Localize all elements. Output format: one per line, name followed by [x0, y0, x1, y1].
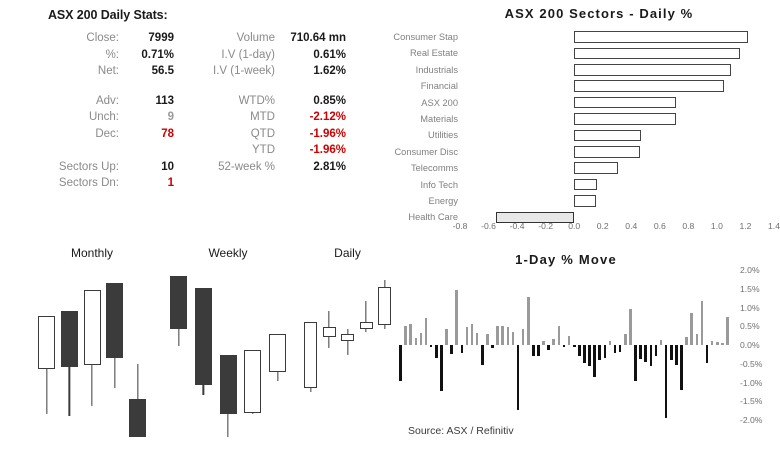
move-y-tick: 0.0%	[740, 340, 760, 350]
sector-label: Industrials	[372, 62, 458, 78]
weekly-candlestick-panel: Weekly	[158, 246, 298, 437]
monthly-title: Monthly	[22, 246, 162, 260]
move-bar	[568, 336, 571, 345]
move-bar	[527, 297, 530, 345]
move-bar	[578, 345, 581, 356]
move-bar	[491, 345, 494, 348]
stats-value: -1.96%	[284, 142, 356, 159]
stats-value: 1	[128, 175, 184, 192]
move-bar	[481, 345, 484, 365]
sector-bar	[574, 146, 640, 158]
stats-value: 1.62%	[284, 63, 356, 80]
move-bar	[665, 345, 668, 418]
sector-bar	[574, 179, 597, 191]
candle-body	[323, 327, 336, 338]
move-y-tick: -1.5%	[740, 396, 762, 406]
daily-plot-area	[290, 262, 405, 437]
daily-title: Daily	[290, 246, 405, 260]
stats-value: 0.61%	[284, 47, 356, 64]
move-bar	[507, 327, 510, 345]
sector-row: Consumer Stap	[372, 29, 776, 45]
candlestick	[378, 262, 391, 437]
move-bar	[415, 338, 418, 345]
move-bar	[461, 345, 464, 353]
candle-body	[360, 322, 373, 329]
move-bar	[701, 301, 704, 345]
candle-body	[269, 334, 286, 373]
stats-label: Unch:	[36, 109, 128, 126]
candle-body	[378, 287, 391, 326]
candle-body	[220, 355, 237, 415]
stats-value	[284, 175, 356, 192]
move-bar	[685, 337, 688, 345]
stats-label: Close:	[36, 30, 128, 47]
stats-label: I.V (1-day)	[184, 47, 284, 64]
move-bar	[440, 345, 443, 391]
move-y-tick: 1.5%	[740, 284, 760, 294]
monthly-candlestick-panel: Monthly	[22, 246, 162, 437]
stats-label: Adv:	[36, 93, 128, 110]
sector-label: ASX 200	[372, 95, 458, 111]
stats-value: 10	[128, 159, 184, 176]
stats-value	[128, 142, 184, 159]
sector-label: Telecomms	[372, 160, 458, 176]
candlestick	[106, 262, 123, 437]
stats-label: Net:	[36, 63, 128, 80]
candlestick	[304, 262, 317, 437]
move-y-tick: 0.5%	[740, 321, 760, 331]
sector-label: Consumer Stap	[372, 29, 458, 45]
move-bar	[455, 290, 458, 345]
move-bar	[624, 334, 627, 345]
sector-bar	[574, 130, 641, 142]
candlestick	[61, 262, 78, 437]
sector-label: Financial	[372, 78, 458, 94]
move-plot-area	[398, 270, 730, 420]
move-bar	[604, 345, 607, 358]
move-bar	[614, 345, 617, 353]
move-bar	[629, 309, 632, 345]
move-bar	[404, 326, 407, 346]
sector-label: Utilities	[372, 127, 458, 143]
move-bar	[399, 345, 402, 381]
move-chart: 1-Day % Move 2.0%1.5%1.0%0.5%0.0%-0.5%-1…	[398, 252, 780, 432]
candlestick	[341, 262, 354, 437]
monthly-plot-area	[22, 262, 162, 437]
candle-body	[244, 350, 261, 413]
sectors-x-tick: -0.8	[453, 221, 468, 231]
move-bar	[466, 327, 469, 345]
move-bar	[563, 345, 566, 347]
move-bar	[547, 345, 550, 350]
stats-panel: ASX 200 Daily Stats: Close:7999Volume710…	[36, 8, 366, 192]
move-bar	[650, 345, 653, 366]
sector-label: Real Estate	[372, 45, 458, 61]
move-bar	[619, 345, 622, 352]
move-bar	[430, 345, 433, 347]
stats-label: Sectors Up:	[36, 159, 128, 176]
move-y-tick: -1.0%	[740, 378, 762, 388]
move-bar	[496, 326, 499, 345]
sectors-x-tick: -0.4	[510, 221, 525, 231]
move-bar	[593, 345, 596, 377]
daily-candlestick-panel: Daily	[290, 246, 405, 437]
stats-title: ASX 200 Daily Stats:	[48, 8, 366, 22]
stats-table: Close:7999Volume710.64 mn%:0.71%I.V (1-d…	[36, 30, 366, 192]
stats-label: %:	[36, 47, 128, 64]
candlestick	[244, 262, 261, 437]
sector-label: Materials	[372, 111, 458, 127]
move-y-tick: -2.0%	[740, 415, 762, 425]
sectors-chart: ASX 200 Sectors - Daily % Consumer StapR…	[372, 6, 776, 246]
stats-label: MTD	[184, 109, 284, 126]
sectors-x-tick: 0.4	[625, 221, 637, 231]
sector-row: Utilities	[372, 127, 776, 143]
candlestick	[323, 262, 336, 437]
move-y-tick: -0.5%	[740, 359, 762, 369]
sectors-x-tick: 1.2	[739, 221, 751, 231]
move-bar	[696, 334, 699, 345]
move-bar	[726, 317, 729, 346]
sector-bar	[574, 113, 675, 125]
move-bar	[501, 326, 504, 346]
stats-label: YTD	[184, 142, 284, 159]
sector-row: Consumer Disc	[372, 144, 776, 160]
candle-body	[170, 276, 187, 329]
source-note: Source: ASX / Refinitiv	[408, 425, 514, 437]
stats-value: 9	[128, 109, 184, 126]
move-bar	[598, 345, 601, 360]
sectors-x-tick: 1.4	[768, 221, 780, 231]
sector-bar	[574, 97, 675, 109]
candle-body	[341, 334, 354, 341]
sector-row: Telecomms	[372, 160, 776, 176]
move-bar	[660, 340, 663, 345]
move-y-tick: 1.0%	[740, 303, 760, 313]
move-bar	[471, 324, 474, 345]
move-bar	[425, 318, 428, 345]
stats-value: -1.96%	[284, 126, 356, 143]
sector-bar	[574, 31, 748, 43]
stats-row-spacer	[36, 80, 128, 93]
candlestick	[38, 262, 55, 437]
move-bar	[716, 342, 719, 345]
move-bar	[644, 345, 647, 362]
sectors-x-tick: -0.6	[481, 221, 496, 231]
move-bar	[517, 345, 520, 410]
sectors-plot-area: Consumer StapReal EstateIndustrialsFinan…	[372, 25, 776, 220]
candle-body	[84, 290, 101, 365]
move-bar	[532, 345, 535, 356]
move-bar	[670, 345, 673, 360]
sectors-x-tick: 1.0	[711, 221, 723, 231]
sectors-x-tick: 0.2	[597, 221, 609, 231]
candle-wick	[347, 329, 348, 355]
move-bar	[690, 313, 693, 345]
stats-row-spacer	[128, 80, 184, 93]
stats-value: 710.64 mn	[284, 30, 356, 47]
sector-bar	[574, 48, 740, 60]
move-bar	[675, 345, 678, 365]
weekly-plot-area	[158, 262, 298, 437]
move-bar	[476, 333, 479, 345]
candle-body	[61, 311, 78, 367]
move-bar	[420, 333, 423, 345]
candlestick	[84, 262, 101, 437]
candlestick	[220, 262, 237, 437]
stats-label: Sectors Dn:	[36, 175, 128, 192]
move-bar	[542, 341, 545, 345]
move-bar	[445, 329, 448, 346]
move-bar	[450, 345, 453, 354]
move-bar	[680, 345, 683, 390]
stats-value: 2.81%	[284, 159, 356, 176]
move-bar	[522, 329, 525, 346]
stats-label: QTD	[184, 126, 284, 143]
move-y-tick: 2.0%	[740, 265, 760, 275]
sectors-x-tick: 0.0	[568, 221, 580, 231]
stats-row-spacer	[284, 80, 356, 93]
stats-row-spacer	[184, 80, 284, 93]
stats-label	[184, 175, 284, 192]
sector-row: Real Estate	[372, 45, 776, 61]
candlestick	[269, 262, 286, 437]
stats-label: I.V (1-week)	[184, 63, 284, 80]
sector-label: Energy	[372, 193, 458, 209]
move-bar	[639, 345, 642, 359]
candlestick	[129, 262, 146, 437]
sectors-x-axis: -0.8-0.6-0.4-0.20.00.20.40.60.81.01.21.4	[372, 220, 776, 236]
sectors-x-tick: -0.2	[538, 221, 553, 231]
move-y-axis: 2.0%1.5%1.0%0.5%0.0%-0.5%-1.0%-1.5%-2.0%	[734, 262, 780, 422]
candle-body	[304, 322, 317, 389]
move-bar	[435, 345, 438, 358]
stats-value: 113	[128, 93, 184, 110]
move-bar	[512, 332, 515, 345]
stats-value: 78	[128, 126, 184, 143]
candle-body	[129, 399, 146, 438]
sector-row: Industrials	[372, 62, 776, 78]
move-bar	[409, 324, 412, 345]
move-chart-title: 1-Day % Move	[398, 252, 780, 267]
candle-body	[38, 316, 55, 369]
move-bar	[609, 341, 612, 346]
move-bar	[655, 345, 658, 356]
move-bar	[573, 345, 576, 347]
move-bar	[706, 345, 709, 363]
sector-row: Financial	[372, 78, 776, 94]
sector-row: ASX 200	[372, 95, 776, 111]
stats-label: Volume	[184, 30, 284, 47]
sector-bar	[574, 195, 595, 207]
move-bar	[721, 343, 724, 345]
move-bar	[552, 339, 555, 345]
candlestick	[360, 262, 373, 437]
stats-label: 52-week %	[184, 159, 284, 176]
weekly-title: Weekly	[158, 246, 298, 260]
stats-label	[36, 142, 128, 159]
move-bar	[486, 334, 489, 345]
move-bar	[711, 341, 714, 346]
move-bar	[537, 345, 540, 356]
stats-value: 56.5	[128, 63, 184, 80]
sector-row: Info Tech	[372, 177, 776, 193]
sector-row: Energy	[372, 193, 776, 209]
candle-body	[195, 288, 212, 384]
sector-label: Consumer Disc	[372, 144, 458, 160]
stats-value: 7999	[128, 30, 184, 47]
sector-bar	[574, 162, 618, 174]
move-bar	[558, 326, 561, 345]
stats-label: Dec:	[36, 126, 128, 143]
sector-row: Materials	[372, 111, 776, 127]
stats-label: WTD%	[184, 93, 284, 110]
move-bar	[588, 345, 591, 366]
sectors-chart-title: ASX 200 Sectors - Daily %	[372, 6, 776, 21]
move-bar	[634, 345, 637, 381]
sector-bar	[574, 64, 731, 76]
sectors-x-tick: 0.8	[682, 221, 694, 231]
candlestick	[170, 262, 187, 437]
sector-label: Info Tech	[372, 177, 458, 193]
stats-value: 0.85%	[284, 93, 356, 110]
move-bar	[583, 345, 586, 363]
sectors-x-tick: 0.6	[654, 221, 666, 231]
sector-bar	[574, 80, 724, 92]
candle-body	[106, 283, 123, 358]
stats-value: 0.71%	[128, 47, 184, 64]
stats-value: -2.12%	[284, 109, 356, 126]
candlestick	[195, 262, 212, 437]
